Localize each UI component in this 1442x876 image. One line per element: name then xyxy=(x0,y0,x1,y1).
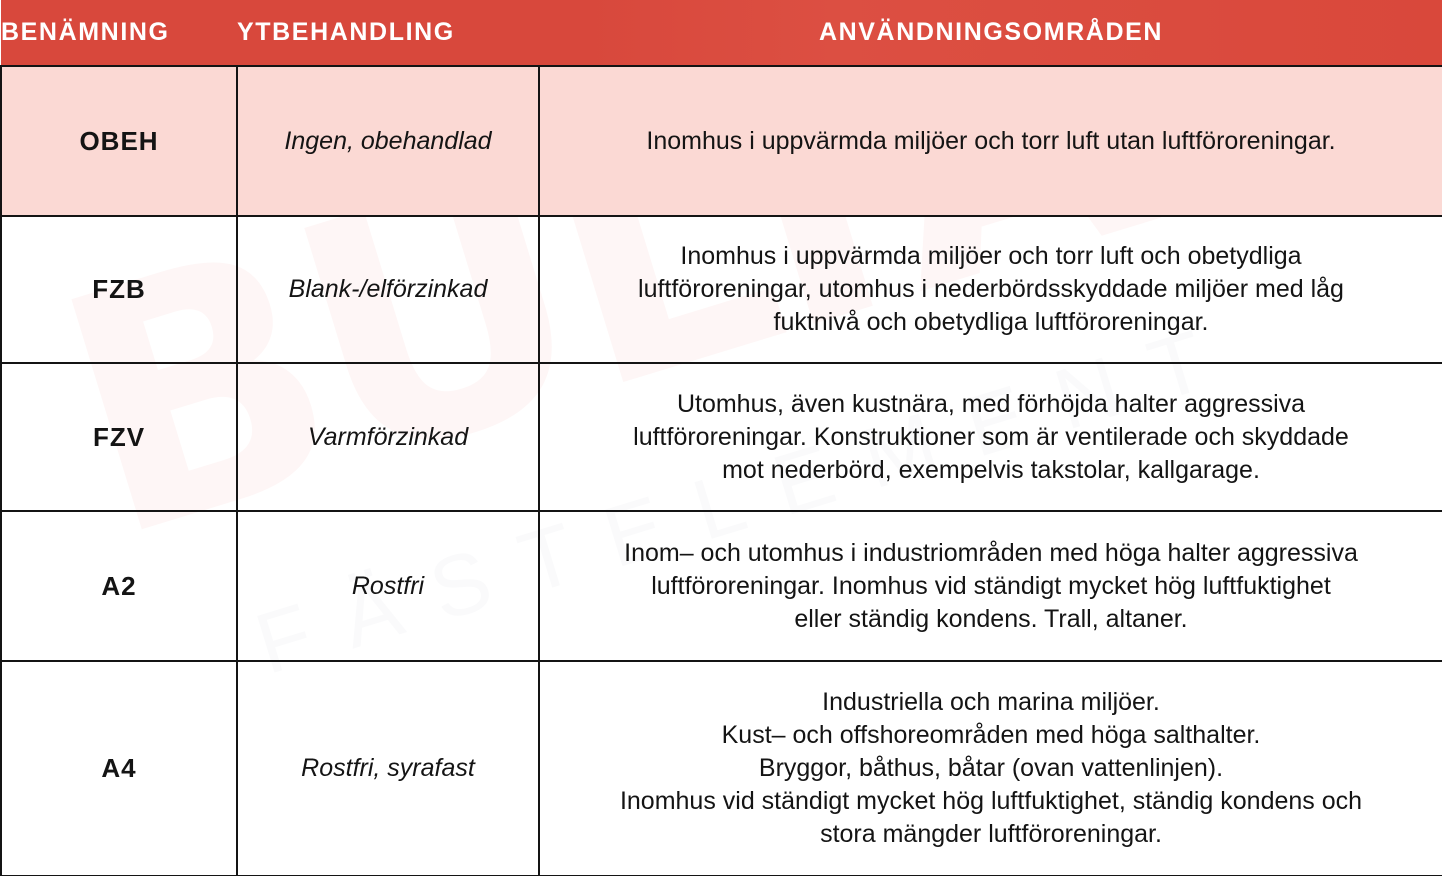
cell-ytbehandling: Rostfri xyxy=(237,511,539,661)
table-body: OBEH Ingen, obehandlad Inomhus i uppvärm… xyxy=(1,66,1442,876)
usage-line: mot nederbörd, exempelvis takstolar, kal… xyxy=(562,454,1420,487)
usage-line: eller ständig kondens. Trall, altaner. xyxy=(562,603,1420,636)
cell-anvandningsomraden: Industriella och marina miljöer. Kust– o… xyxy=(539,661,1442,876)
usage-line: stora mängder luftföroreningar. xyxy=(562,818,1420,851)
usage-line: Inom– och utomhus i industriområden med … xyxy=(562,537,1420,570)
cell-benamning: FZB xyxy=(1,216,237,363)
usage-line: Inomhus i uppvärmda miljöer och torr luf… xyxy=(562,125,1420,158)
cell-benamning: FZV xyxy=(1,363,237,511)
table-row: A2 Rostfri Inom– och utomhus i industrio… xyxy=(1,511,1442,661)
table-row: FZV Varmförzinkad Utomhus, även kustnära… xyxy=(1,363,1442,511)
usage-line: Inomhus vid ständigt mycket hög luftfukt… xyxy=(562,785,1420,818)
surface-treatment-table: BENÄMNING YTBEHANDLING ANVÄNDNINGSOMRÅDE… xyxy=(0,0,1442,876)
usage-line: Bryggor, båthus, båtar (ovan vattenlinje… xyxy=(562,752,1420,785)
cell-ytbehandling: Varmförzinkad xyxy=(237,363,539,511)
usage-line: luftföroreningar, utomhus i nederbördssk… xyxy=(562,273,1420,306)
usage-line: Inomhus i uppvärmda miljöer och torr luf… xyxy=(562,240,1420,273)
cell-ytbehandling: Rostfri, syrafast xyxy=(237,661,539,876)
cell-benamning: OBEH xyxy=(1,66,237,216)
table-row: A4 Rostfri, syrafast Industriella och ma… xyxy=(1,661,1442,876)
cell-benamning: A4 xyxy=(1,661,237,876)
column-header-benamning: BENÄMNING xyxy=(1,0,237,66)
table-header-row: BENÄMNING YTBEHANDLING ANVÄNDNINGSOMRÅDE… xyxy=(1,0,1442,66)
column-header-anvandningsomraden-label: ANVÄNDNINGSOMRÅDEN xyxy=(819,18,1163,46)
table-header: BENÄMNING YTBEHANDLING ANVÄNDNINGSOMRÅDE… xyxy=(1,0,1442,66)
cell-anvandningsomraden: Inomhus i uppvärmda miljöer och torr luf… xyxy=(539,216,1442,363)
column-header-ytbehandling: YTBEHANDLING xyxy=(237,0,539,66)
column-header-ytbehandling-label: YTBEHANDLING xyxy=(237,18,455,46)
usage-line: luftföroreningar. Inomhus vid ständigt m… xyxy=(562,570,1420,603)
cell-anvandningsomraden: Inom– och utomhus i industriområden med … xyxy=(539,511,1442,661)
table-row: OBEH Ingen, obehandlad Inomhus i uppvärm… xyxy=(1,66,1442,216)
usage-line: Utomhus, även kustnära, med förhöjda hal… xyxy=(562,388,1420,421)
column-header-anvandningsomraden: ANVÄNDNINGSOMRÅDEN xyxy=(539,0,1442,66)
cell-ytbehandling: Blank-/elförzinkad xyxy=(237,216,539,363)
cell-benamning: A2 xyxy=(1,511,237,661)
usage-line: luftföroreningar. Konstruktioner som är … xyxy=(562,421,1420,454)
cell-ytbehandling: Ingen, obehandlad xyxy=(237,66,539,216)
usage-line: fuktnivå och obetydliga luftföroreningar… xyxy=(562,306,1420,339)
cell-anvandningsomraden: Inomhus i uppvärmda miljöer och torr luf… xyxy=(539,66,1442,216)
surface-treatment-table-container: BULTAB FÄSTELEMENT BENÄMNING YTBEHANDLIN… xyxy=(0,0,1442,876)
table-row: FZB Blank-/elförzinkad Inomhus i uppvärm… xyxy=(1,216,1442,363)
usage-line: Industriella och marina miljöer. xyxy=(562,686,1420,719)
usage-line: Kust– och offshoreområden med höga salth… xyxy=(562,719,1420,752)
cell-anvandningsomraden: Utomhus, även kustnära, med förhöjda hal… xyxy=(539,363,1442,511)
column-header-benamning-label: BENÄMNING xyxy=(1,18,170,46)
